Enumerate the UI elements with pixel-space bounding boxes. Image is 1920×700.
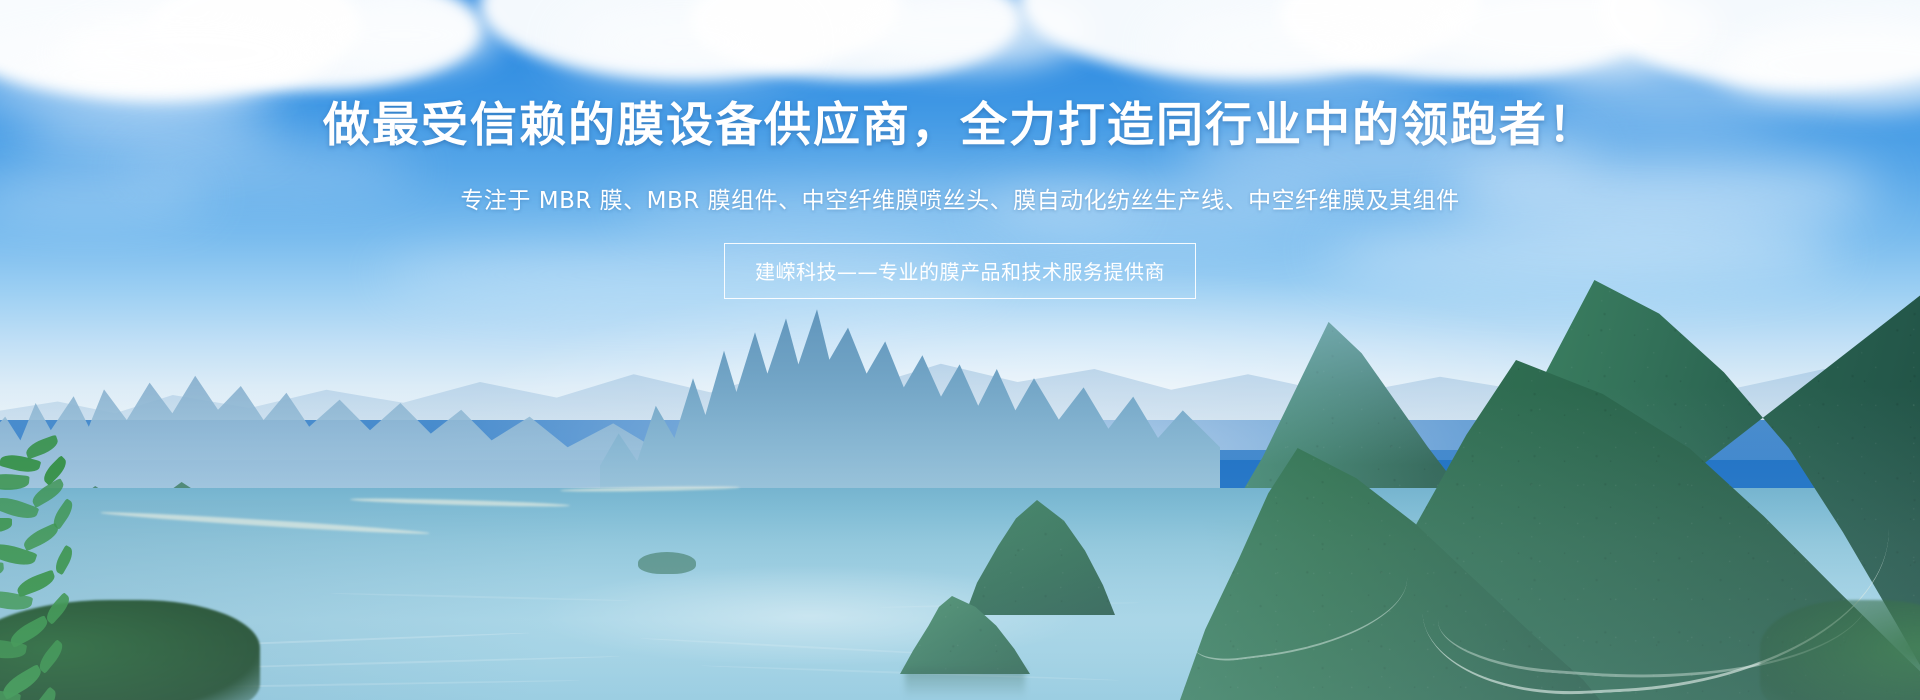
hero-banner: 做最受信赖的膜设备供应商，全力打造同行业中的领跑者！ 专注于 MBR 膜、MBR… (0, 0, 1920, 700)
tiny-island (638, 552, 696, 574)
leaf-shape (15, 570, 58, 598)
leaf-shape (0, 518, 12, 533)
foreground-foliage-right (1760, 600, 1920, 700)
leaf-shape (52, 545, 76, 575)
foreground-tree-left (0, 430, 160, 700)
leaf-shape (0, 562, 5, 581)
leaf-shape (21, 523, 61, 552)
leaf-shape (27, 687, 60, 700)
leaf-shape (24, 435, 61, 460)
leaf-shape (0, 472, 30, 492)
landscape (0, 0, 1920, 700)
island-reflection (905, 668, 1025, 698)
